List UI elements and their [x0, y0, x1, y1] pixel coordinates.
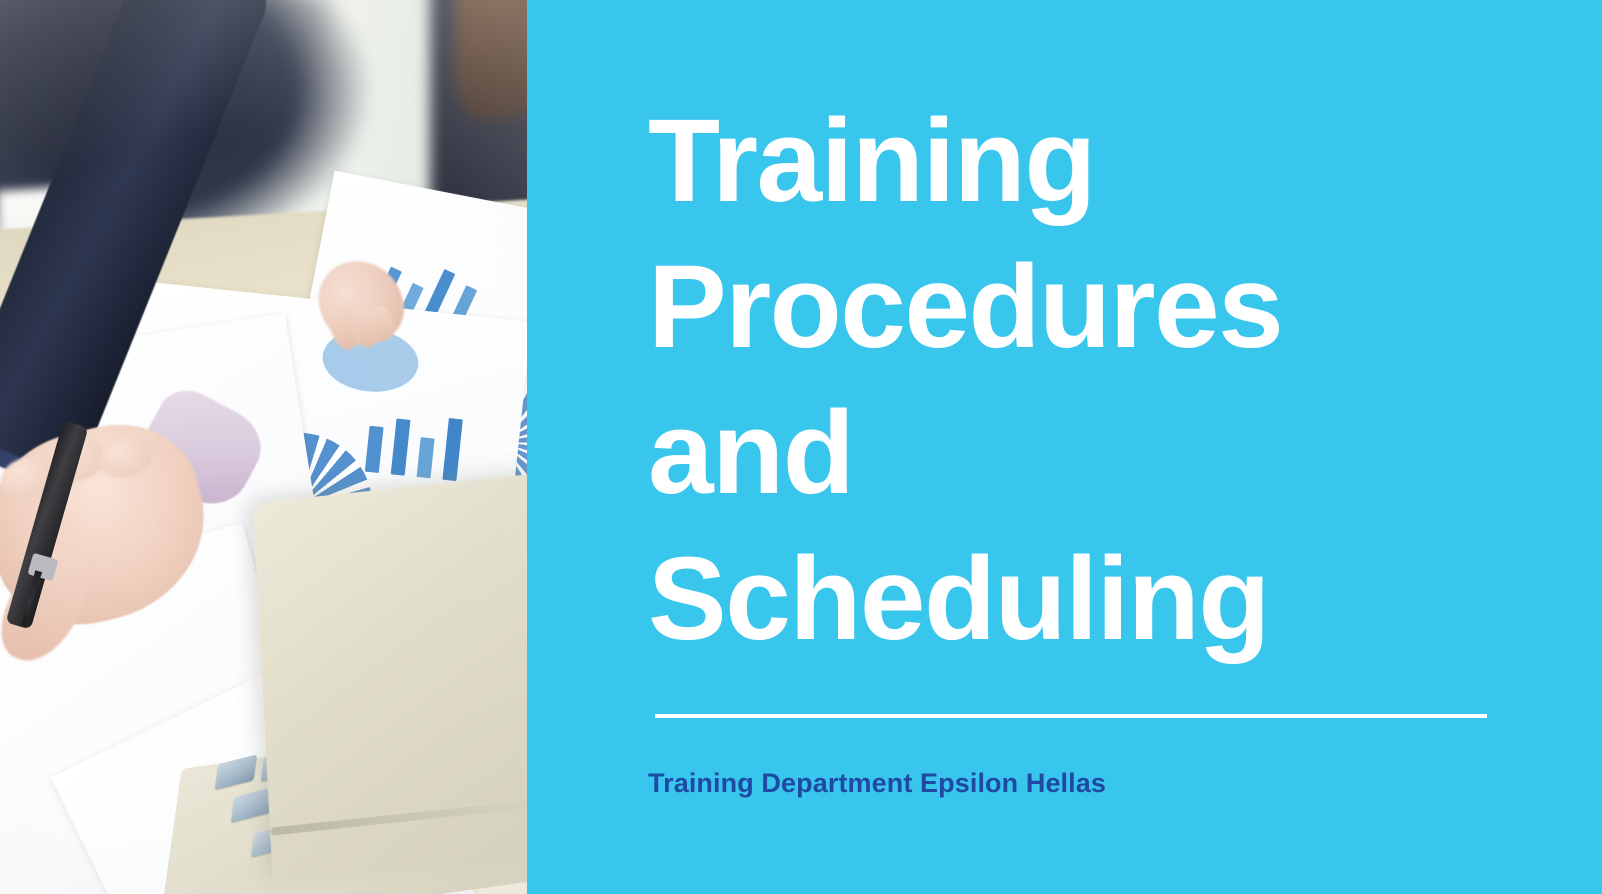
subtitle: Training Department Epsilon Hellas — [648, 768, 1106, 799]
title-divider — [655, 714, 1487, 718]
title-line-3: and — [648, 380, 1548, 526]
title-line-4: Scheduling — [648, 526, 1548, 672]
presentation-title-slide: Training Procedures and Scheduling Train… — [0, 0, 1602, 894]
second-person-hair — [455, 0, 527, 120]
chart-bar — [391, 419, 411, 476]
title-line-2: Procedures — [648, 234, 1548, 380]
cover-photo — [0, 0, 527, 894]
page-title: Training Procedures and Scheduling — [648, 88, 1548, 672]
title-panel: Training Procedures and Scheduling Train… — [527, 0, 1602, 894]
chart-bar — [442, 418, 462, 481]
title-line-1: Training — [648, 88, 1548, 234]
chart-bar — [417, 437, 435, 478]
chart-bar — [365, 426, 384, 473]
